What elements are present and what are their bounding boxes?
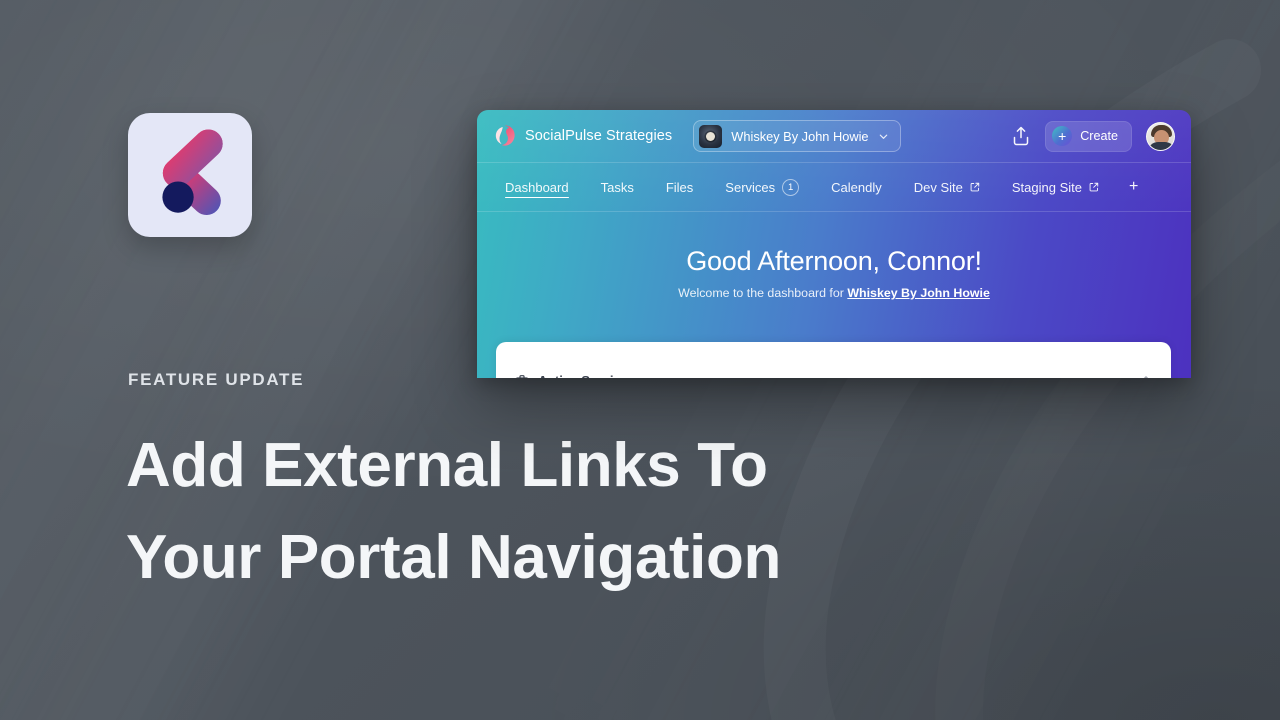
nav-tab-staging-site[interactable]: Staging Site xyxy=(996,163,1115,211)
sort-updown-icon[interactable] xyxy=(1139,374,1153,379)
nav-tab-label: Services xyxy=(725,180,775,195)
chevron-down-icon xyxy=(878,131,889,142)
nav-tab-label: Dev Site xyxy=(914,180,963,195)
nav-tab-files[interactable]: Files xyxy=(650,163,709,211)
brand-logo-tile xyxy=(128,113,252,237)
nav-tab-services[interactable]: Services 1 xyxy=(709,163,815,211)
eyebrow-label: FEATURE UPDATE xyxy=(128,370,304,390)
nav-tab-label: Calendly xyxy=(831,180,882,195)
org-switcher[interactable]: Whiskey By John Howie xyxy=(693,120,900,152)
external-link-icon xyxy=(970,182,980,192)
welcome-subtitle: Welcome to the dashboard for Whiskey By … xyxy=(477,286,1191,300)
nav-tab-dev-site[interactable]: Dev Site xyxy=(898,163,996,211)
avatar[interactable] xyxy=(1146,122,1175,151)
nav-tab-label: Dashboard xyxy=(505,180,569,195)
briefcase-icon xyxy=(515,374,529,379)
app-window-preview: SocialPulse Strategies Whiskey By John H… xyxy=(477,110,1191,378)
share-upload-icon[interactable] xyxy=(1011,125,1031,147)
portal-nav: Dashboard Tasks Files Services 1 Calendl… xyxy=(477,163,1191,212)
app-topbar: SocialPulse Strategies Whiskey By John H… xyxy=(477,110,1191,163)
external-link-icon xyxy=(1089,182,1099,192)
org-thumbnail-icon xyxy=(699,125,722,148)
create-button[interactable]: + Create xyxy=(1045,121,1132,152)
page-title: Add External Links To Your Portal Naviga… xyxy=(126,420,866,605)
nav-tab-label: Staging Site xyxy=(1012,180,1082,195)
headline-line-1: Add External Links To xyxy=(126,431,768,500)
nav-tab-dashboard[interactable]: Dashboard xyxy=(496,163,585,211)
nav-tab-label: Tasks xyxy=(601,180,634,195)
nav-tab-calendly[interactable]: Calendly xyxy=(815,163,898,211)
card-header: Active Services xyxy=(515,373,636,378)
org-name: Whiskey By John Howie xyxy=(731,129,868,144)
headline-line-2: Your Portal Navigation xyxy=(126,512,866,604)
card-actions xyxy=(1108,374,1153,379)
create-button-label: Create xyxy=(1080,129,1118,143)
dashboard-hero: Good Afternoon, Connor! Welcome to the d… xyxy=(477,212,1191,300)
status-badge: 1 xyxy=(782,179,799,196)
chevron-down-icon[interactable] xyxy=(1108,374,1122,379)
topbar-actions: + Create xyxy=(1011,121,1175,152)
active-services-card: Active Services xyxy=(496,342,1171,378)
brand: SocialPulse Strategies xyxy=(494,124,672,148)
greeting-title: Good Afternoon, Connor! xyxy=(477,246,1191,277)
nav-tab-tasks[interactable]: Tasks xyxy=(585,163,650,211)
add-nav-tab-button[interactable]: + xyxy=(1115,178,1152,196)
socialpulse-swirl-icon xyxy=(494,124,516,148)
card-title-label: Active Services xyxy=(538,373,636,378)
brand-name: SocialPulse Strategies xyxy=(525,128,672,144)
welcome-org-link[interactable]: Whiskey By John Howie xyxy=(847,286,990,300)
nav-tab-label: Files xyxy=(666,180,693,195)
plus-icon: + xyxy=(1052,126,1072,146)
socialpulse-s-logo-icon xyxy=(144,129,236,221)
welcome-prefix: Welcome to the dashboard for xyxy=(678,286,847,300)
